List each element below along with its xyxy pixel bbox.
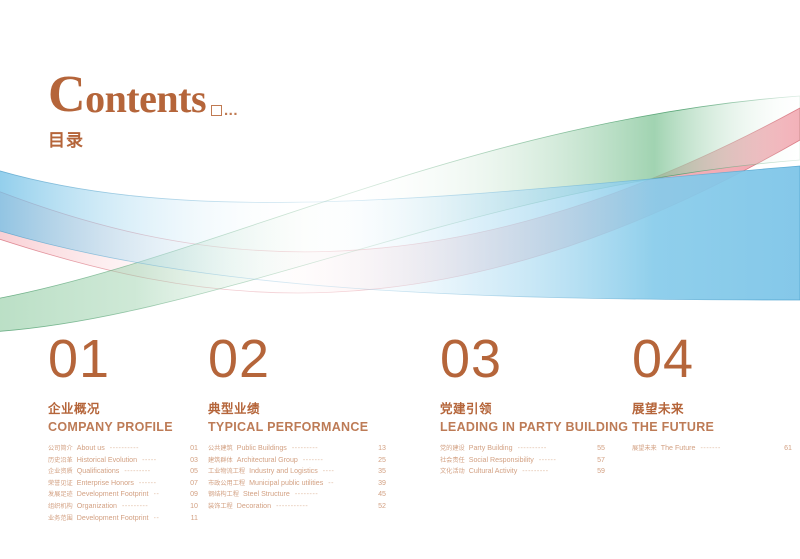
contents-page: Contents... 目录 01企业概况COMPANY PROFILE公司简介… bbox=[0, 0, 800, 559]
toc-entry-page-number: 39 bbox=[378, 480, 386, 487]
toc-entry-leader-dots: ---------- bbox=[110, 445, 187, 452]
toc-entry-page-number: 09 bbox=[190, 491, 198, 498]
section-title-en: THE FUTURE bbox=[632, 420, 792, 434]
toc-entry-label-en: Architectural Group bbox=[237, 457, 298, 464]
toc-entry-leader-dots: ------- bbox=[303, 457, 375, 464]
toc-entry-label-cn: 公司简介 bbox=[48, 446, 73, 452]
toc-entry-page-number: 25 bbox=[378, 457, 386, 464]
toc-entry[interactable]: 装饰工程Decoration-----------52 bbox=[208, 503, 386, 515]
toc-entry-label-en: Industry and Logistics bbox=[249, 468, 318, 475]
toc-entry-page-number: 61 bbox=[784, 445, 792, 452]
toc-entry[interactable]: 党的建设Party Building----------55 bbox=[440, 445, 605, 457]
ellipsis-text: ... bbox=[224, 103, 238, 118]
toc-entry-leader-dots: --------- bbox=[122, 503, 187, 510]
toc-entry[interactable]: 展望未来The Future-------61 bbox=[632, 445, 792, 457]
toc-entry-label-en: Public Buildings bbox=[237, 445, 287, 452]
toc-entry-leader-dots: -- bbox=[328, 480, 375, 487]
toc-entry-label-cn: 公共建筑 bbox=[208, 446, 233, 452]
toc-entry-label-cn: 党的建设 bbox=[440, 446, 465, 452]
section-title-en: COMPANY PROFILE bbox=[48, 420, 198, 434]
toc-entry-label-en: Decoration bbox=[237, 503, 271, 510]
toc-entry-leader-dots: ----------- bbox=[276, 503, 375, 510]
toc-entry[interactable]: 公司简介About us----------01 bbox=[48, 445, 198, 457]
toc-entry-page-number: 03 bbox=[190, 457, 198, 464]
section-title-cn: 展望未来 bbox=[632, 398, 792, 417]
toc-entry-leader-dots: ---------- bbox=[518, 445, 595, 452]
toc-entry-page-number: 55 bbox=[597, 445, 605, 452]
toc-entry-label-en: Cultural Activity bbox=[469, 468, 518, 475]
toc-entry-label-cn: 组织机构 bbox=[48, 504, 73, 510]
section-title-cn: 典型业绩 bbox=[208, 398, 386, 417]
toc-section-02[interactable]: 02典型业绩TYPICAL PERFORMANCE公共建筑Public Buil… bbox=[208, 332, 386, 515]
toc-entry-label-en: Steel Structure bbox=[243, 491, 290, 498]
toc-section-03[interactable]: 03党建引领LEADING IN PARTY BUILDING党的建设Party… bbox=[440, 332, 605, 480]
toc-entry-label-cn: 企业资质 bbox=[48, 469, 73, 475]
section-number: 01 bbox=[48, 332, 198, 386]
toc-entry-label-cn: 历史沿革 bbox=[48, 458, 73, 464]
section-title-cn: 党建引领 bbox=[440, 398, 605, 417]
section-number: 02 bbox=[208, 332, 386, 386]
toc-entry-page-number: 11 bbox=[191, 515, 198, 522]
toc-entry-page-number: 07 bbox=[190, 480, 198, 487]
section-number: 03 bbox=[440, 332, 605, 386]
toc-section-04[interactable]: 04展望未来THE FUTURE展望未来The Future-------61 bbox=[632, 332, 792, 457]
toc-entry-list: 党的建设Party Building----------55社会责任Social… bbox=[440, 445, 605, 480]
toc-entry-label-cn: 工业物流工程 bbox=[208, 469, 245, 475]
toc-entry-label-en: Development Footprint bbox=[77, 515, 149, 522]
toc-entry[interactable]: 公共建筑Public Buildings---------13 bbox=[208, 445, 386, 457]
toc-entry-label-en: Historical Evolution bbox=[77, 457, 137, 464]
toc-entry-label-en: The Future bbox=[661, 445, 696, 452]
toc-entry-label-en: Organization bbox=[77, 503, 117, 510]
toc-entry-label-cn: 发展足迹 bbox=[48, 492, 73, 498]
page-header: Contents... 目录 bbox=[48, 72, 238, 151]
toc-entry-page-number: 10 bbox=[190, 503, 198, 510]
section-number: 04 bbox=[632, 332, 792, 386]
toc-entry-label-en: Development Footprint bbox=[77, 491, 149, 498]
toc-entry-label-cn: 钢结构工程 bbox=[208, 492, 239, 498]
toc-entry-leader-dots: ------ bbox=[139, 480, 187, 487]
toc-entry-page-number: 52 bbox=[378, 503, 386, 510]
toc-entry-leader-dots: -------- bbox=[295, 491, 375, 498]
page-title-capital: C bbox=[48, 72, 85, 119]
toc-entry-page-number: 35 bbox=[378, 468, 386, 475]
toc-entry-list: 公司简介About us----------01历史沿革Historical E… bbox=[48, 445, 198, 526]
toc-entry-list: 展望未来The Future-------61 bbox=[632, 445, 792, 457]
toc-entry[interactable]: 发展足迹Development Footprint--09 bbox=[48, 491, 198, 503]
toc-entry-leader-dots: ------- bbox=[700, 445, 781, 452]
toc-entry-page-number: 13 bbox=[378, 445, 386, 452]
toc-entry[interactable]: 组织机构Organization---------10 bbox=[48, 503, 198, 515]
toc-entry-page-number: 57 bbox=[597, 457, 605, 464]
toc-entry[interactable]: 文化活动Cultural Activity---------59 bbox=[440, 468, 605, 480]
toc-entry-leader-dots: --------- bbox=[522, 468, 594, 475]
toc-entry-label-cn: 装饰工程 bbox=[208, 504, 233, 510]
section-title-en: TYPICAL PERFORMANCE bbox=[208, 420, 386, 434]
toc-entry-label-cn: 建筑群体 bbox=[208, 458, 233, 464]
toc-entry-page-number: 01 bbox=[190, 445, 198, 452]
toc-section-01[interactable]: 01企业概况COMPANY PROFILE公司简介About us-------… bbox=[48, 332, 198, 526]
wave-blue bbox=[0, 166, 800, 300]
toc-entry[interactable]: 社会责任Social Responsibility------57 bbox=[440, 457, 605, 469]
toc-entry-label-cn: 业务范围 bbox=[48, 516, 73, 522]
toc-entry-label-cn: 展望未来 bbox=[632, 446, 657, 452]
toc-entry-label-en: Social Responsibility bbox=[469, 457, 534, 464]
toc-entry-page-number: 45 bbox=[378, 491, 386, 498]
missing-glyph-box-icon bbox=[211, 105, 222, 116]
toc-entry-label-cn: 社会责任 bbox=[440, 458, 465, 464]
toc-entry[interactable]: 钢结构工程Steel Structure--------45 bbox=[208, 491, 386, 503]
toc-entry-page-number: 59 bbox=[597, 468, 605, 475]
toc-entry-label-cn: 市政公用工程 bbox=[208, 481, 245, 487]
toc-entry[interactable]: 市政公用工程Municipal public utilities--39 bbox=[208, 480, 386, 492]
page-subtitle: 目录 bbox=[48, 126, 238, 151]
toc-entry-label-en: Enterprise Honors bbox=[77, 480, 134, 487]
toc-entry-label-cn: 文化活动 bbox=[440, 469, 465, 475]
toc-entry-leader-dots: --------- bbox=[124, 468, 187, 475]
section-title-en: LEADING IN PARTY BUILDING bbox=[440, 420, 605, 434]
toc-entry-label-en: Qualifications bbox=[77, 468, 120, 475]
toc-entry-label-cn: 荣誉见证 bbox=[48, 481, 73, 487]
section-title-cn: 企业概况 bbox=[48, 398, 198, 417]
page-title: Contents... bbox=[48, 72, 238, 119]
toc-entry-leader-dots: --------- bbox=[292, 445, 375, 452]
toc-entry-list: 公共建筑Public Buildings---------13建筑群体Archi… bbox=[208, 445, 386, 515]
toc-entry-page-number: 05 bbox=[190, 468, 198, 475]
toc-entry-label-en: Party Building bbox=[469, 445, 513, 452]
toc-entry[interactable]: 历史沿革Historical Evolution-----03 bbox=[48, 457, 198, 469]
toc-entry-leader-dots: ------ bbox=[539, 457, 594, 464]
toc-entry-leader-dots: -- bbox=[154, 491, 188, 498]
toc-entry-label-en: About us bbox=[77, 445, 105, 452]
toc-entry-leader-dots: ----- bbox=[142, 457, 187, 464]
toc-entry-leader-dots: ---- bbox=[323, 468, 375, 475]
toc-entry-leader-dots: -- bbox=[154, 515, 188, 522]
toc-entry[interactable]: 业务范围Development Footprint--11 bbox=[48, 515, 198, 527]
toc-entry-label-en: Municipal public utilities bbox=[249, 480, 323, 487]
page-title-rest: ontents bbox=[85, 79, 206, 119]
